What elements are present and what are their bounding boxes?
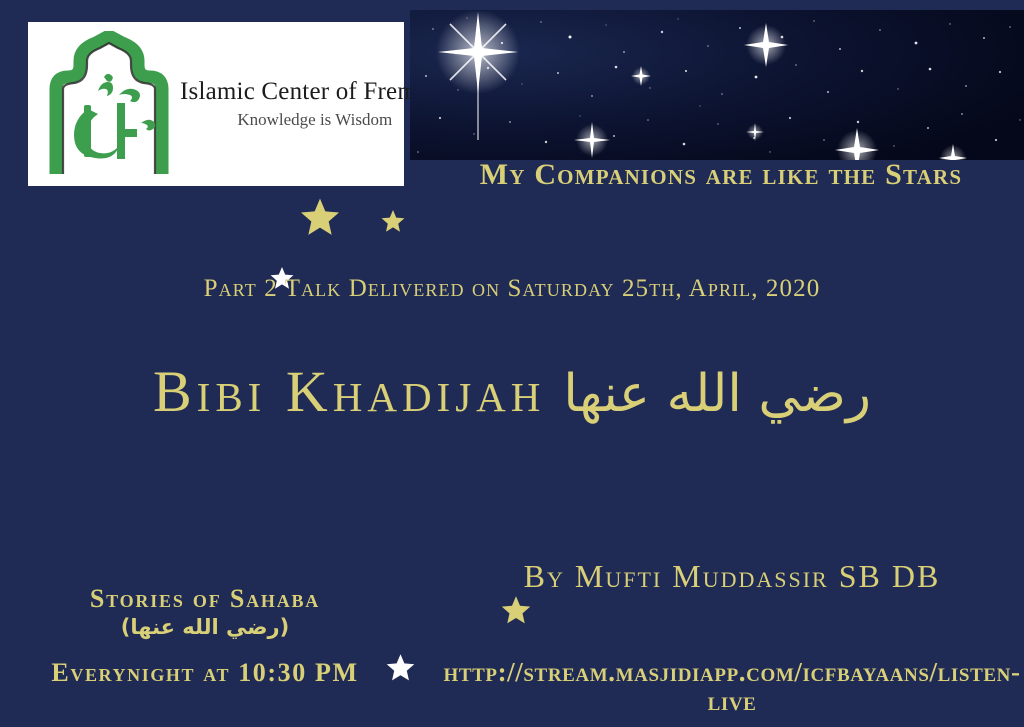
star-gold-small-upper-icon [381, 209, 405, 233]
organization-logo-card: Islamic Center of Fremont Knowledge is W… [28, 22, 404, 186]
series-info-block: Stories of Sahaba (رضي الله عنها) Everyn… [0, 584, 410, 686]
star-gold-speaker-icon [501, 595, 531, 625]
series-schedule: Everynight at 10:30 PM [0, 659, 410, 686]
starfield-banner-image [410, 10, 1024, 160]
star-gold-large-upper-icon [300, 197, 340, 237]
starfield-graphic [410, 10, 1024, 160]
stream-url-link[interactable]: http://stream.masjidiapp.com/icfbayaans/… [440, 658, 1024, 716]
icf-mosque-logo-icon [44, 31, 174, 177]
hadith-headline: My Companions are like the Stars [418, 158, 1024, 192]
speaker-byline: By Mufti Muddassir SB DB [440, 558, 1024, 595]
page-title-latin: Bibi Khadijah [153, 359, 545, 424]
page-title-arabic: رضي الله عنها [563, 364, 871, 424]
page-title: Bibi Khadijahرضي الله عنها [0, 358, 1024, 425]
series-title: Stories of Sahaba [0, 584, 410, 614]
poster-canvas: Islamic Center of Fremont Knowledge is W… [0, 0, 1024, 727]
series-title-arabic: (رضي الله عنها) [0, 615, 410, 639]
talk-date-line: Part 2 Talk Delivered on Saturday 25th, … [0, 275, 1024, 303]
